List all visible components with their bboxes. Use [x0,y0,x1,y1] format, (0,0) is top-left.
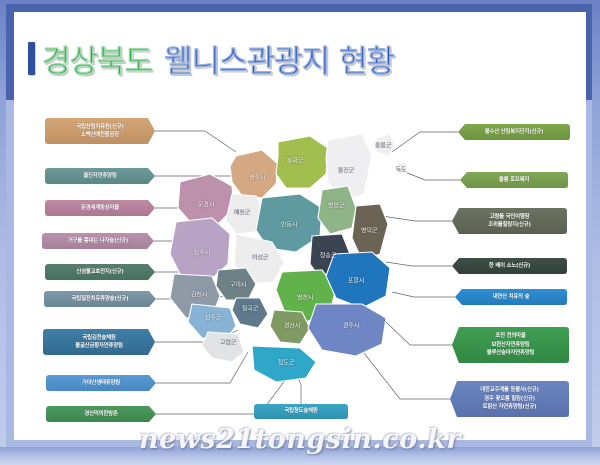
callout-text: 울진자연휴양림 [83,172,116,180]
map-region-22[interactable] [252,346,316,382]
callout-gukrip-cheongdo[interactable]: 국립청도숲체원 [254,404,348,419]
watermark: news21tongsin.co.kr [0,424,600,455]
callout-naeyeonsan-chiyu[interactable]: 내연산 치유의 숲 [455,289,567,305]
callout-text: 포천 천의마을보현산자연휴양림불루산숲마자연휴양림 [487,332,535,357]
callout-text: 한 배이 소노(신규) [489,262,530,270]
callout-pocheon-cheonui[interactable]: 포천 천의마을보현산자연휴양림불루산숲마자연휴양림 [452,327,569,363]
callout-text: 경산덕의한방촌 [84,410,117,418]
map-region-8[interactable] [318,186,356,234]
callout-text: 대한교주계를 등불사(신규)경주 꽃오름 힐링(신규)토함산 자연휴양림(신규) [480,386,539,411]
callout-goryeong-gungmin[interactable]: 고령를 국민여행장조위를힐링지(신규) [452,208,567,234]
callout-mungyeong-sege-dongsang[interactable]: 문경세계동상마을 [45,200,155,216]
map-region-17[interactable] [202,332,244,362]
callout-text: 문경세계동상마을 [81,204,119,212]
callout-text: 국립김천숲체원불굴산금황자연휴양림 [75,334,123,351]
map-region-1[interactable] [276,136,328,188]
callout-text: 국립청도숲체원 [284,407,317,415]
map-svg [150,112,450,422]
callout-gukrip-sanrim-chiyuwon[interactable]: 국립산림치유원(신규)소백산예천활공장 [45,118,155,144]
callout-text: 국립산림치유원(신규)소백산예천활공장 [76,123,123,140]
callout-uljin-jayeon-hyuyangrim[interactable]: 울진자연휴양림 [45,168,155,184]
poster-root: 경상북도 웰니스관광지 현황 영주시봉화군울진군울릉 [0,0,600,465]
map-region-19[interactable] [270,310,310,344]
callout-sinseong-bulgyo[interactable]: 신성불교호전지(신규) [45,264,155,280]
callout-text: 거구를 뽐내는 나자숲(신규) [68,237,128,245]
callout-text: 신성불교호전지(신규) [76,268,123,276]
title-region: 경상북도 [42,36,152,81]
map-region-15[interactable] [232,298,268,328]
map-region-5[interactable] [178,174,234,224]
callout-gyeongsan-hanbangchon[interactable]: 경산덕의한방촌 [46,406,156,422]
map-region-20[interactable] [326,252,390,308]
map-region-0[interactable] [230,150,278,198]
callout-text: 울릉 로프웨지 [499,176,529,184]
map-region-3[interactable] [376,134,396,156]
callout-text: 불수산 산림복지단지(신규) [485,128,544,136]
map-region-4[interactable] [396,162,408,174]
page-title: 경상북도 웰니스관광지 현황 [28,36,394,81]
callout-text: 내연산 치유의 숲 [493,293,530,301]
map-region-21[interactable] [308,304,386,356]
callout-ulleung-ropeway[interactable]: 울릉 로프웨지 [460,172,568,188]
callout-bulsusan-sanrim-bokji[interactable]: 불수산 산림복지단지(신규) [458,124,570,140]
callout-han-baei-sono[interactable]: 한 배이 소노(신규) [452,258,567,274]
callout-gayasan-saengtae[interactable]: 가야산생태휴양림 [46,375,156,391]
callout-gukrip-chiyusup[interactable]: 국립칠전치유휴양숲(신규) [44,291,156,307]
callout-text: 국립칠전치유휴양숲(신규) [72,295,129,303]
gyeongbuk-map: 영주시봉화군울진군울릉군독도문경시예천군안동시영양군영덕군상주시의성군청송군구미… [150,112,450,422]
callout-text: 고령를 국민여행장조위를힐링지(신규) [488,213,531,230]
callout-text: 가야산생태휴양림 [82,379,120,387]
callout-gyeongju-cluster[interactable]: 대한교주계를 등불사(신규)경주 꽃오름 힐링(신규)토함산 자연휴양림(신규) [450,381,569,417]
callout-gukrip-gimcheon[interactable]: 국립김천숲체원불굴산금황자연휴양림 [43,329,155,355]
title-accent-bar [28,42,35,75]
callout-nanjasup[interactable]: 거구를 뽐내는 나자숲(신규) [42,233,154,249]
title-subject: 웰니스관광지 현황 [164,36,394,81]
